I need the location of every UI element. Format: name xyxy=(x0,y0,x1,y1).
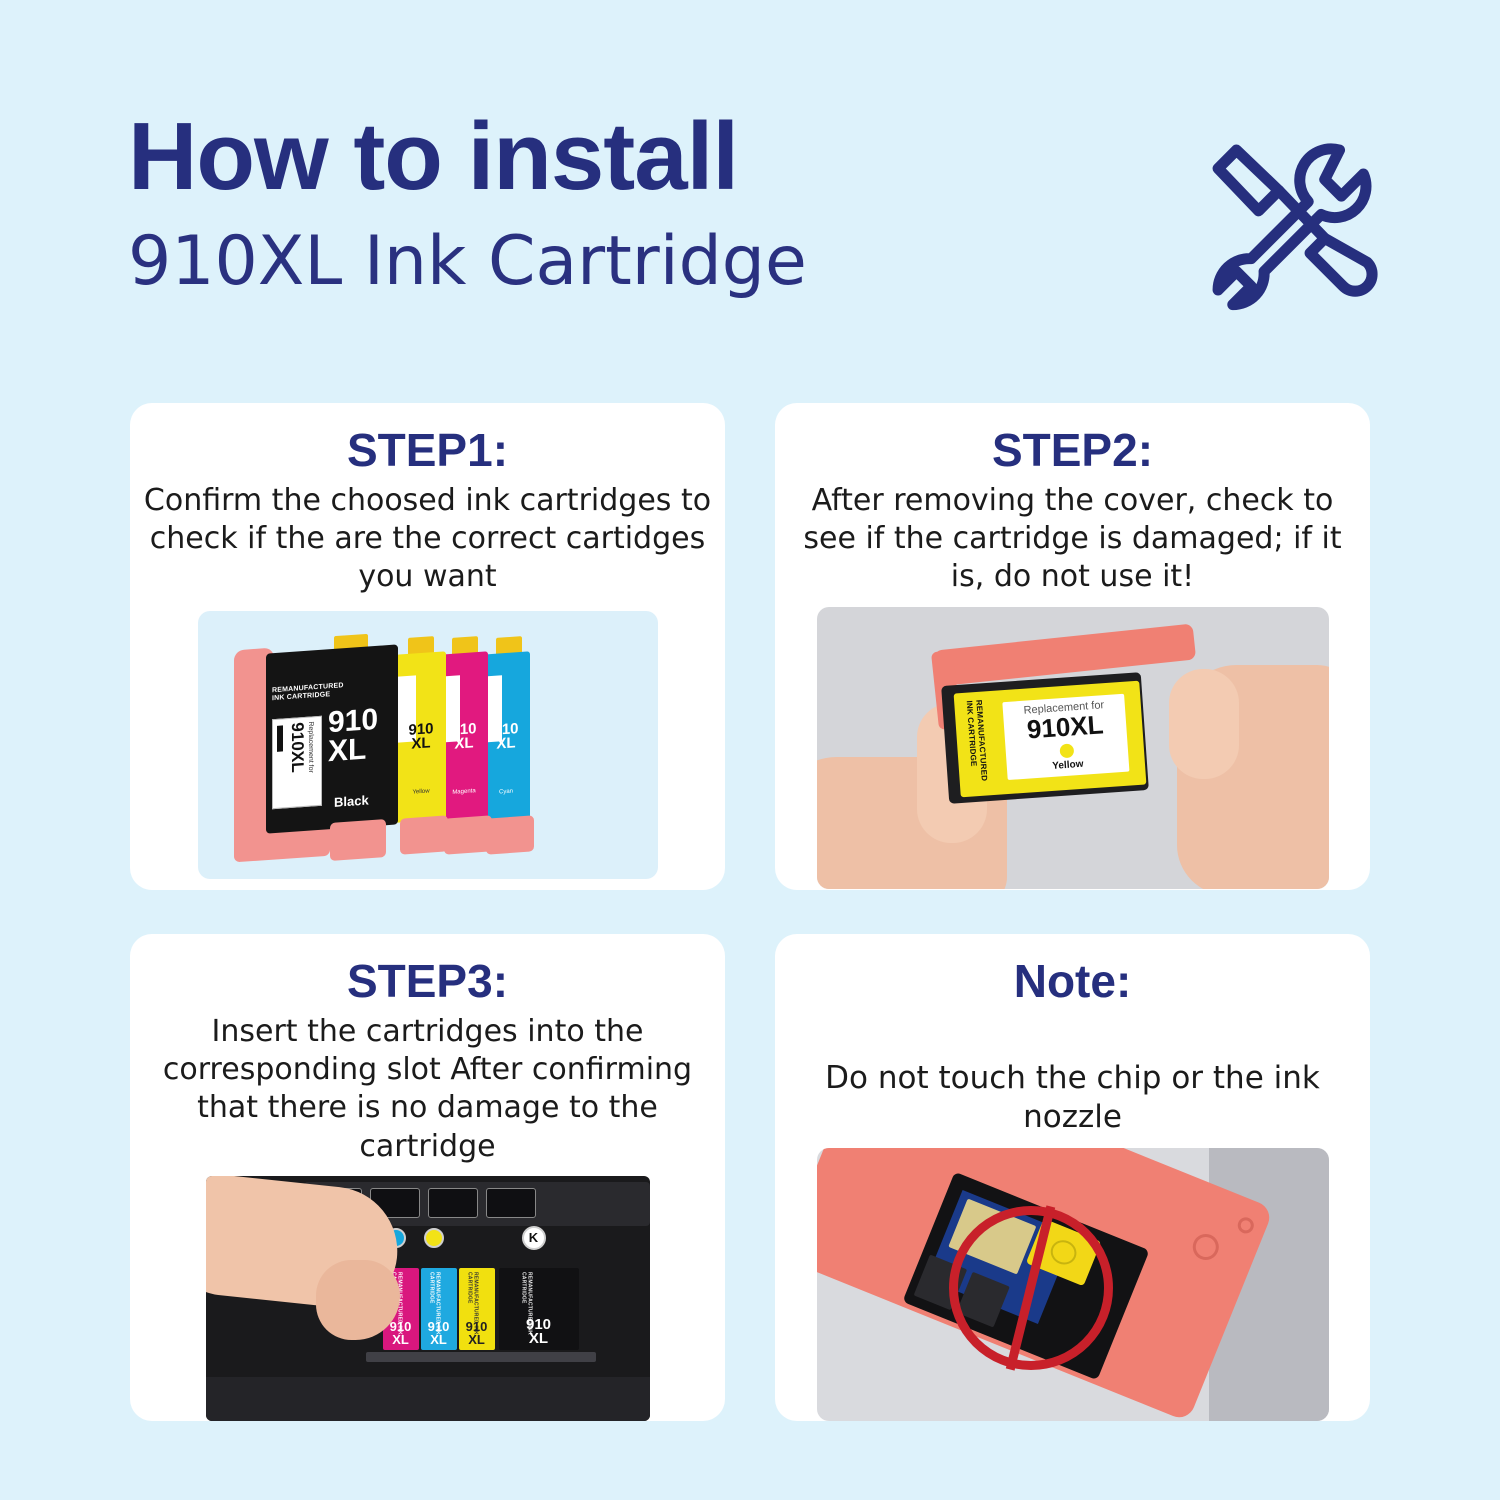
cartridge-clip-magenta xyxy=(444,815,492,854)
carriage-rail xyxy=(366,1352,596,1362)
cover-emboss-circle xyxy=(1188,1230,1222,1264)
cartridge-side-text: REMANUFACTUREDINK CARTRIDGE xyxy=(964,699,989,782)
cartridge-group: 910XL Cyan 910XL Magenta xyxy=(238,631,618,871)
card-step3: STEP3: Insert the cartridges into the co… xyxy=(130,934,725,1421)
label-color-name: Yellow xyxy=(1006,755,1128,774)
cartridge-black-front-label: 910XL Replacement for xyxy=(272,715,322,808)
printer-cartridge-yellow: REMANUFACTURED INK CARTRIDGE 910XL xyxy=(459,1268,495,1350)
label-color-dot xyxy=(1059,743,1074,758)
cartridge-clip-cyan xyxy=(486,815,534,854)
cartridge-yellow-label: 910XL xyxy=(408,722,433,753)
card-step3-body: Insert the cartridges into the correspon… xyxy=(130,1013,725,1167)
steps-grid: STEP1: Confirm the choosed ink cartridge… xyxy=(130,403,1370,1421)
cartridge-clip-black-front xyxy=(330,819,386,861)
protective-cover-tab xyxy=(956,647,1002,670)
printer-cartridge-cyan: REMANUFACTURED INK CARTRIDGE 910XL xyxy=(421,1268,457,1350)
four-ink-cartridges-photo: 910XL Cyan 910XL Magenta xyxy=(198,611,658,879)
cartridge-white-label: Replacement for 910XL Yellow xyxy=(1002,693,1129,779)
cartridge-black-910xl-text: 910XL xyxy=(328,706,378,767)
cartridge-magenta: 910XL Magenta xyxy=(440,651,488,822)
page-subtitle: 910XL Ink Cartridge xyxy=(128,219,807,304)
cover-emboss-small xyxy=(1235,1215,1256,1236)
cartridge-black-color-text: Black xyxy=(334,792,369,809)
cartridge-yellow: 910XL Yellow xyxy=(396,651,446,822)
card-note: Note: Do not touch the chip or the ink n… xyxy=(775,934,1370,1421)
do-not-touch-chip-photo xyxy=(817,1148,1329,1421)
cartridge-cyan-label: 910XL xyxy=(493,722,518,753)
card-step3-title: STEP3: xyxy=(347,956,508,1007)
slot-indicator-yellow xyxy=(424,1228,444,1248)
card-step1-body: Confirm the choosed ink cartridges to ch… xyxy=(130,482,725,597)
right-thumb xyxy=(1169,669,1239,779)
cartridge-black: REMANUFACTUREDINK CARTRIDGE 910XL Replac… xyxy=(266,644,398,833)
cartridge-cyan: 910XL Cyan xyxy=(482,651,530,822)
cartridge-black-side-text: REMANUFACTUREDINK CARTRIDGE xyxy=(272,682,344,703)
card-step1: STEP1: Confirm the choosed ink cartridge… xyxy=(130,403,725,890)
cartridge-clip-yellow xyxy=(400,815,448,854)
title-block: How to install 910XL Ink Cartridge xyxy=(128,105,807,304)
printer-front-shelf xyxy=(206,1377,650,1421)
slot-indicator-black: K xyxy=(522,1226,546,1250)
inserting-cartridge-into-printer-photo: K REMANUFACTURED INK CARTRIDGE 910XL REM… xyxy=(206,1176,650,1421)
card-step2: STEP2: After removing the cover, check t… xyxy=(775,403,1370,890)
poster-root: How to install 910XL Ink Cartridge STEP1… xyxy=(0,0,1500,1500)
card-step1-title: STEP1: xyxy=(347,425,508,476)
printer-cartridge-black: REMANUFACTURED INK CARTRIDGE 910XL xyxy=(499,1268,579,1350)
header: How to install 910XL Ink Cartridge xyxy=(0,0,1500,380)
card-step2-body: After removing the cover, check to see i… xyxy=(775,482,1370,597)
cartridge-face-yellow: REMANUFACTUREDINK CARTRIDGE Replacement … xyxy=(953,680,1146,797)
card-step2-title: STEP2: xyxy=(992,425,1153,476)
cartridge-magenta-label: 910XL xyxy=(451,722,476,753)
page-title: How to install xyxy=(128,105,807,209)
card-note-title: Note: xyxy=(1014,956,1132,1007)
hands-removing-cover-photo: REMANUFACTUREDINK CARTRIDGE Replacement … xyxy=(817,607,1329,889)
card-note-body: Do not touch the chip or the ink nozzle xyxy=(775,1059,1370,1138)
tools-wrench-screwdriver-icon xyxy=(1196,128,1380,312)
